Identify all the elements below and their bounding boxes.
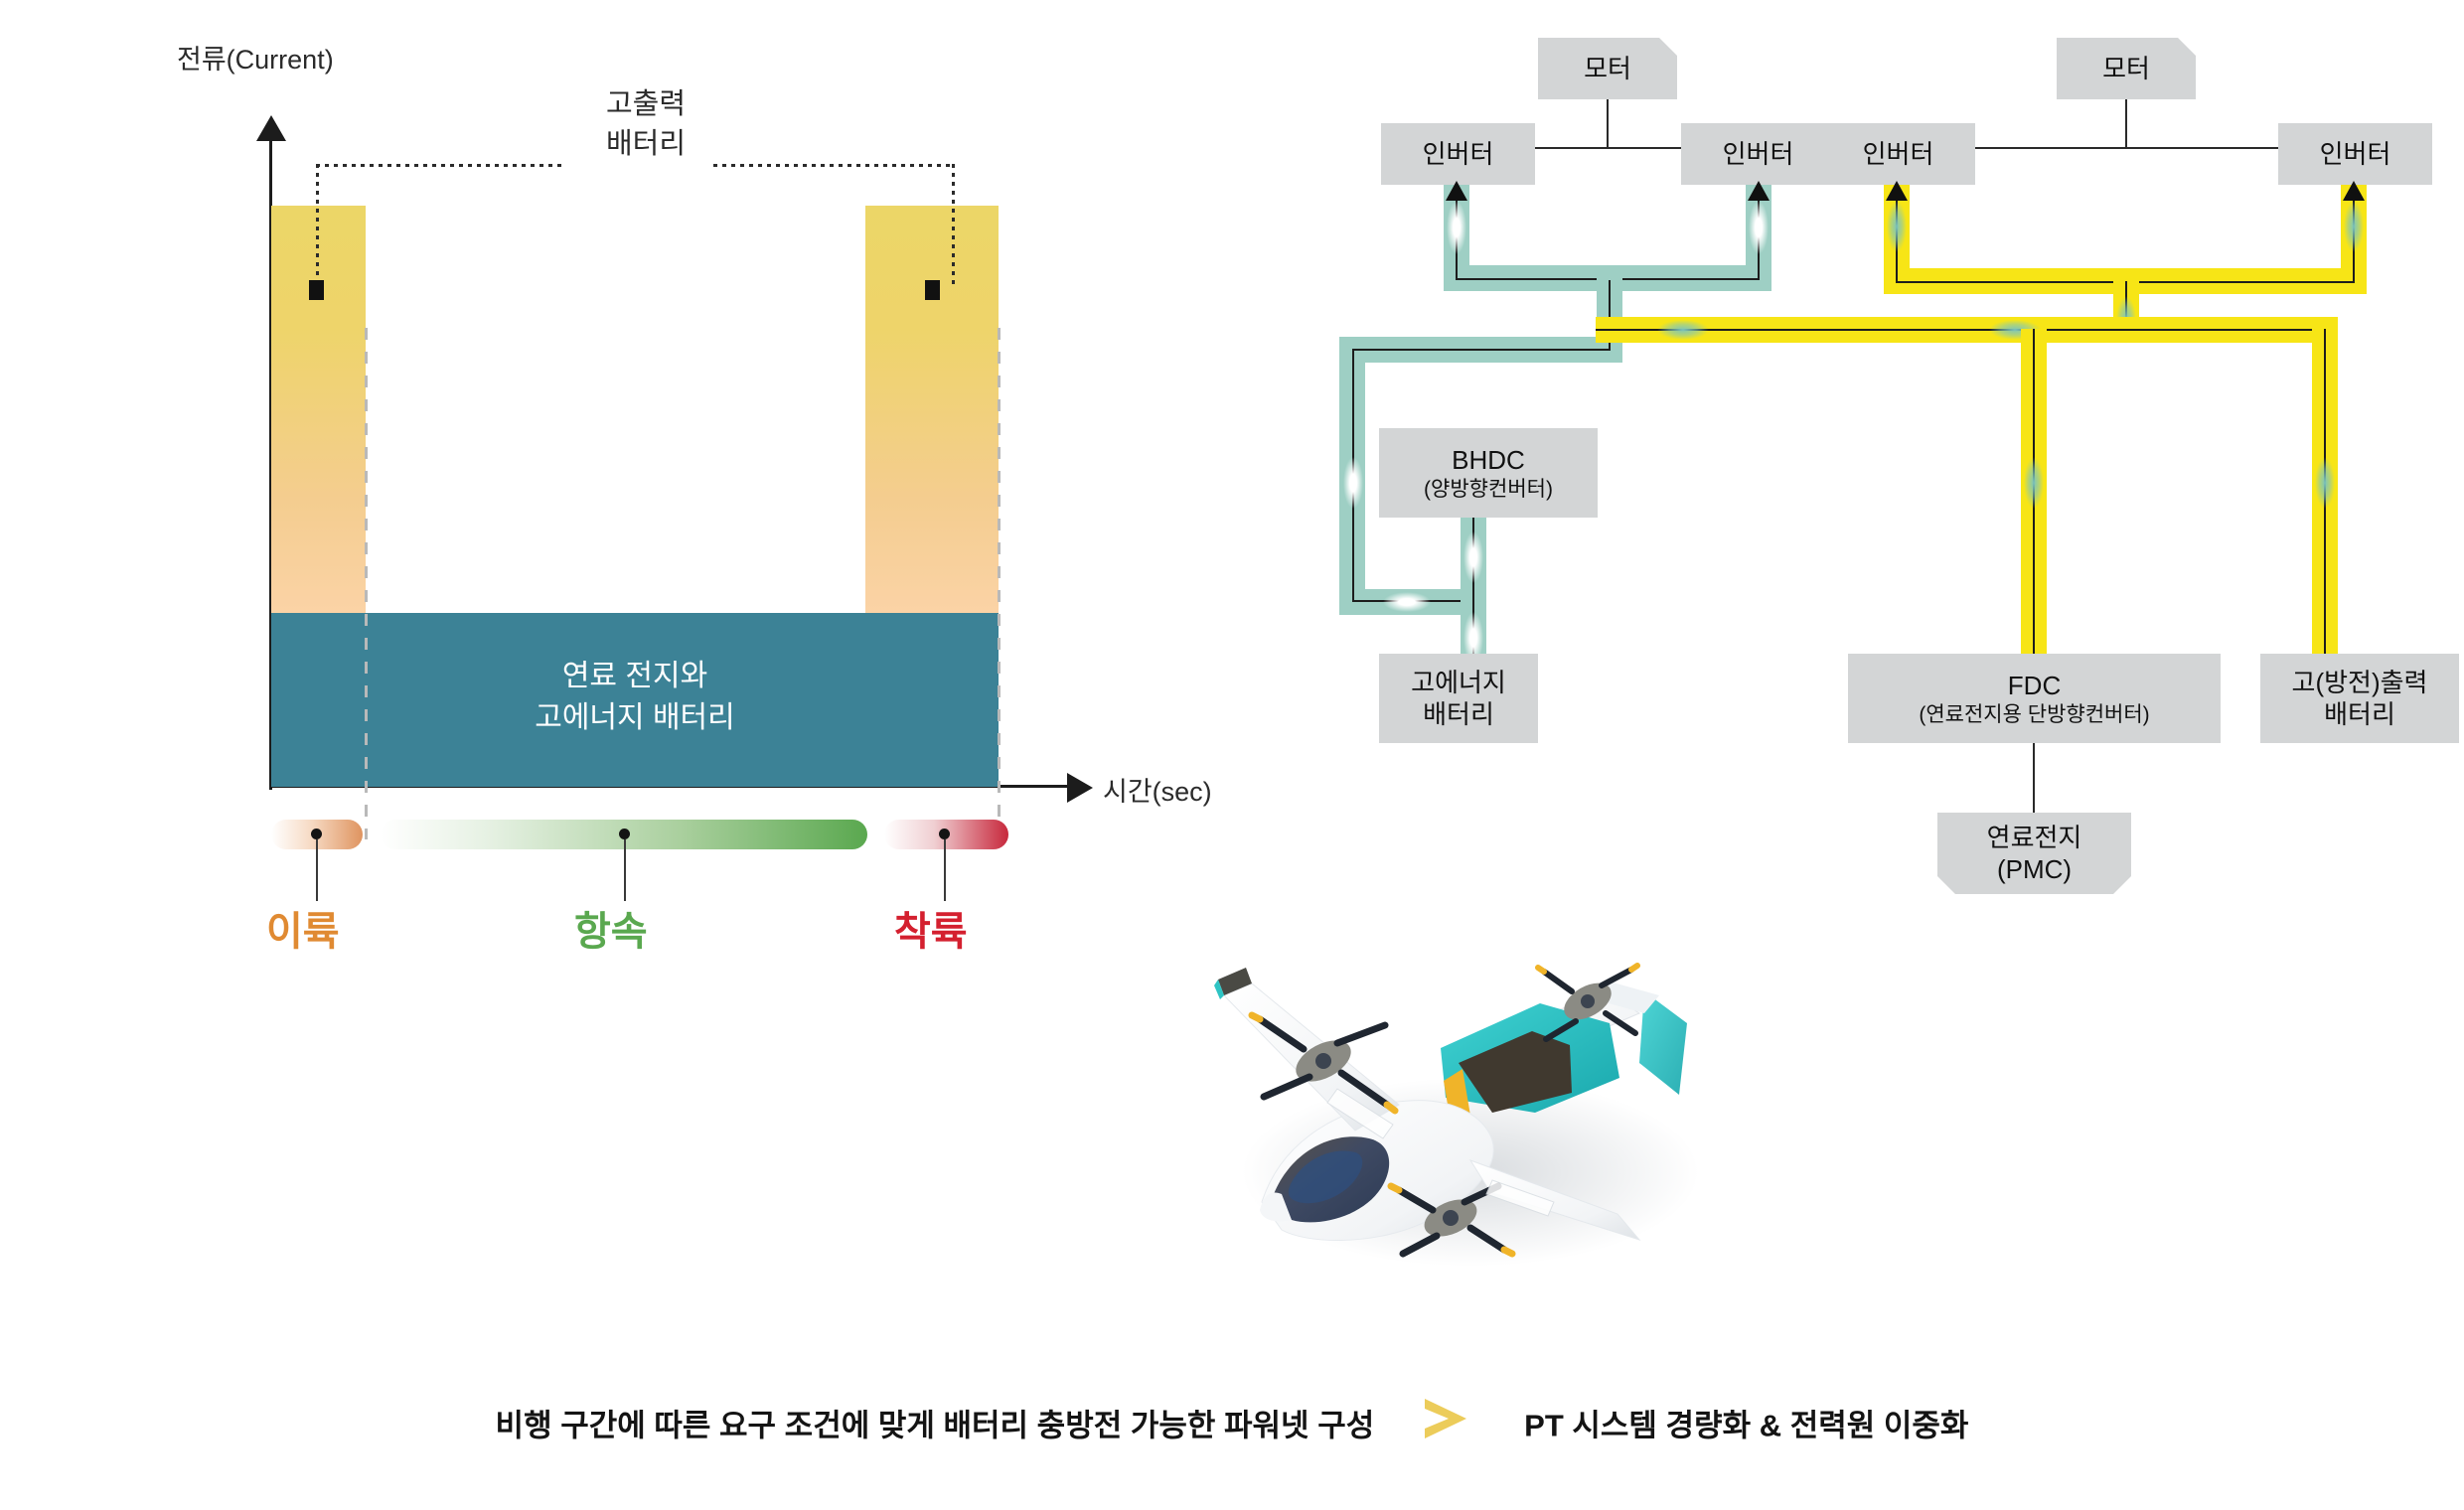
phase-dot-cruise xyxy=(619,829,630,839)
bus-glow-right-drop xyxy=(2315,457,2335,509)
callout-high-power-battery-label: 고출력 배터리 xyxy=(556,84,735,164)
phase-label-takeoff: 이륙 xyxy=(266,899,340,957)
band-label-line2: 고에너지 배터리 xyxy=(271,697,999,739)
node-inverter-3[interactable]: 인버터 xyxy=(1821,123,1975,185)
connector-motor-right-stem xyxy=(2125,99,2127,149)
node-bhdc[interactable]: BHDC (양방향컨버터) xyxy=(1379,428,1598,518)
node-motor-right-label: 모터 xyxy=(2102,53,2150,84)
phase-dot-takeoff xyxy=(311,829,322,839)
node-motor-left-label: 모터 xyxy=(1584,53,1631,84)
x-axis-label: 시간(sec) xyxy=(1103,770,1212,809)
callout-leader-right-horizontal xyxy=(713,164,955,167)
bus-glow-fdc-drop xyxy=(2024,457,2044,509)
powernet-architecture-diagram: 모터 인버터 인버터 BHDC (양방향컨버터) 고에너지 배터리 xyxy=(1321,20,2464,993)
connector-motor-left-stem xyxy=(1607,99,1609,149)
arrow-up-icon-inverter-2 xyxy=(1748,181,1770,201)
node-inverter-2-label: 인버터 xyxy=(1723,138,1794,170)
current-profile-chart: 전류(Current) 시간(sec) 연료 전지와 고에너지 배터리 고출력 … xyxy=(0,0,1242,993)
node-fdc[interactable]: FDC (연료전지용 단방향컨버터) xyxy=(1848,654,2221,743)
node-high-power-battery[interactable]: 고(방전)출력 배터리 xyxy=(2260,654,2459,743)
bus-glow-riser-4 xyxy=(2344,201,2364,252)
arrow-up-icon-inverter-4 xyxy=(2343,181,2365,201)
node-high-energy-battery-line1: 고에너지 xyxy=(1411,667,1506,698)
arrow-up-icon-inverter-3 xyxy=(1886,181,1908,201)
phase-divider-2 xyxy=(998,328,1001,839)
node-inverter-1-label: 인버터 xyxy=(1423,138,1494,170)
bus-glow-1 xyxy=(1447,201,1466,254)
phase-stem-landing xyxy=(944,839,946,901)
bar-high-power-landing xyxy=(865,206,999,613)
node-high-energy-battery[interactable]: 고에너지 배터리 xyxy=(1379,654,1538,743)
node-inverter-4-label: 인버터 xyxy=(2320,138,2391,170)
bus-teal-core-left-top xyxy=(1352,349,1611,351)
node-high-power-battery-line2: 배터리 xyxy=(2324,698,2395,730)
callout-marker-right xyxy=(925,280,940,300)
phase-dot-landing xyxy=(939,829,950,839)
node-fuelcell[interactable]: 연료전지 (PMC) xyxy=(1937,813,2131,894)
bus-glow-bhdc-down-1 xyxy=(1463,531,1483,583)
callout-leader-left-horizontal xyxy=(316,164,564,167)
footer-caption: 비행 구간에 따른 요구 조건에 맞게 배터리 충방전 가능한 파워넷 구성 P… xyxy=(0,1391,2464,1454)
node-inverter-3-label: 인버터 xyxy=(1863,138,1934,170)
bus-glow-left-rail xyxy=(1343,457,1363,509)
bus-glow-2 xyxy=(1749,201,1769,254)
bus-glow-left-bottom xyxy=(1383,592,1431,612)
phase-label-cruise: 항속 xyxy=(574,899,648,957)
phase-stem-takeoff xyxy=(316,839,318,901)
node-fdc-sub: (연료전지용 단방향컨버터) xyxy=(1919,701,2149,728)
arrow-up-icon-inverter-1 xyxy=(1446,181,1467,201)
callout-label-line2: 배터리 xyxy=(556,124,735,164)
node-motor-right[interactable]: 모터 xyxy=(2057,38,2196,99)
callout-marker-left xyxy=(309,280,324,300)
node-inverter-1[interactable]: 인버터 xyxy=(1381,123,1535,185)
node-motor-left[interactable]: 모터 xyxy=(1538,38,1677,99)
connector-fdc-to-fuelcell xyxy=(2033,743,2035,815)
bus-glow-main-1 xyxy=(1657,320,1709,340)
x-axis-arrow-icon xyxy=(1067,773,1093,803)
phase-stem-cruise xyxy=(624,839,626,901)
callout-leader-right-vertical xyxy=(952,164,955,288)
callout-label-line1: 고출력 xyxy=(556,84,735,124)
footer-left-text: 비행 구간에 따른 요구 조건에 맞게 배터리 충방전 가능한 파워넷 구성 xyxy=(496,1409,1375,1443)
phase-divider-1 xyxy=(365,328,368,839)
node-fuelcell-line1: 연료전지 xyxy=(1987,822,2082,853)
node-fuelcell-line2: (PMC) xyxy=(1997,853,2072,885)
node-fdc-title: FDC xyxy=(2008,670,2061,701)
phase-label-landing: 착륙 xyxy=(894,899,968,957)
node-bhdc-title: BHDC xyxy=(1452,444,1525,476)
callout-leader-left-vertical xyxy=(316,164,319,288)
footer-right-text: PT 시스템 경량화 & 전력원 이중화 xyxy=(1524,1409,1968,1443)
band-fuelcell-high-energy-label: 연료 전지와 고에너지 배터리 xyxy=(271,656,999,739)
arrow-right-icon xyxy=(1419,1391,1480,1454)
node-inverter-2[interactable]: 인버터 xyxy=(1681,123,1835,185)
node-inverter-4[interactable]: 인버터 xyxy=(2278,123,2432,185)
node-bhdc-sub: (양방향컨버터) xyxy=(1424,476,1553,503)
bus-glow-riser-3 xyxy=(1887,201,1907,252)
evtol-aircraft-render xyxy=(1143,874,1719,1291)
node-high-energy-battery-line2: 배터리 xyxy=(1423,698,1494,730)
y-axis-label: 전류(Current) xyxy=(177,38,334,76)
node-high-power-battery-line1: 고(방전)출력 xyxy=(2292,667,2428,698)
band-label-line1: 연료 전지와 xyxy=(271,656,999,697)
